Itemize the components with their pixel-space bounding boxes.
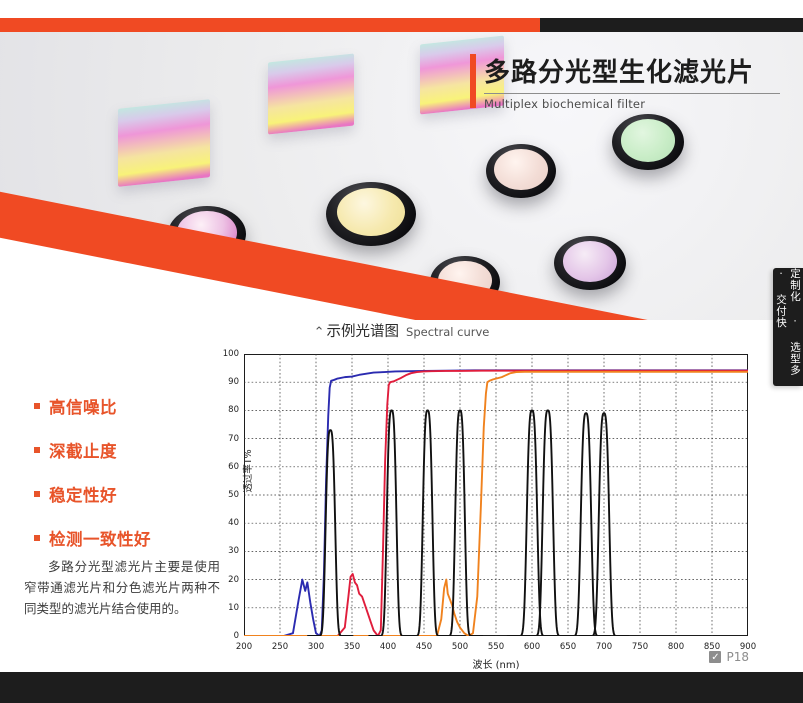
- title-divider: [484, 93, 780, 94]
- x-tick-label: 800: [668, 636, 684, 652]
- page-title: 多路分光型生化滤光片: [484, 52, 790, 89]
- x-tick-label: 250: [272, 636, 288, 652]
- page-marker: ✓ P18: [709, 650, 749, 664]
- check-icon: ✓: [709, 651, 721, 663]
- chart-heading-en: Spectral curve: [406, 325, 489, 339]
- x-tick-label: 750: [632, 636, 648, 652]
- x-tick-label: 650: [560, 636, 576, 652]
- feature-list: 高信噪比 深截止度 稳定性好 检测一致性好: [34, 394, 224, 570]
- x-tick-label: 500: [452, 636, 468, 652]
- feature-label: 检测一致性好: [49, 526, 151, 550]
- x-axis-label: 波长 (nm): [244, 656, 748, 671]
- y-tick-label: 30: [228, 546, 244, 556]
- page-subtitle: Multiplex biochemical filter: [484, 97, 790, 111]
- title-block: 多路分光型生化滤光片 Multiplex biochemical filter: [470, 52, 790, 111]
- bullet-square-icon: [34, 447, 40, 453]
- chart-section-heading: ⌃示例光谱图Spectral curve: [0, 320, 803, 341]
- filter-ring: [554, 236, 626, 290]
- spectral-curve-chart: 0102030405060708090100 20025030035040045…: [244, 354, 748, 636]
- chevron-up-icon: ⌃: [314, 325, 325, 340]
- feature-item: 检测一致性好: [34, 526, 224, 550]
- filter-ring: [326, 182, 416, 246]
- chart-canvas: [244, 354, 748, 636]
- x-tick-label: 300: [308, 636, 324, 652]
- hero-banner: 多路分光型生化滤光片 Multiplex biochemical filter: [0, 0, 803, 320]
- chart-heading-cn: 示例光谱图: [327, 324, 400, 340]
- x-tick-label: 550: [488, 636, 504, 652]
- y-tick-label: 20: [228, 575, 244, 585]
- y-tick-label: 100: [223, 349, 244, 359]
- feature-item: 高信噪比: [34, 394, 224, 418]
- y-tick-label: 40: [228, 518, 244, 528]
- feature-item: 稳定性好: [34, 482, 224, 506]
- x-tick-label: 400: [380, 636, 396, 652]
- filter-ring: [486, 144, 556, 198]
- top-dark-bar: [540, 18, 803, 32]
- description-paragraph: 多路分光型滤光片主要是使用窄带通滤光片和分色滤光片两种不同类型的滤光片结合使用的…: [24, 556, 220, 619]
- bullet-square-icon: [34, 535, 40, 541]
- x-tick-label: 450: [416, 636, 432, 652]
- title-accent-bar: [470, 54, 476, 108]
- bullet-square-icon: [34, 403, 40, 409]
- filter-ring: [612, 114, 684, 170]
- x-tick-label: 350: [344, 636, 360, 652]
- bullet-square-icon: [34, 491, 40, 497]
- feature-label: 高信噪比: [49, 394, 117, 418]
- y-tick-label: 10: [228, 603, 244, 613]
- footer-bar: [0, 672, 803, 703]
- filter-plate: [118, 99, 210, 187]
- x-tick-label: 600: [524, 636, 540, 652]
- y-axis-label: 透过率T%: [240, 436, 254, 506]
- x-tick-label: 200: [236, 636, 252, 652]
- y-tick-label: 90: [228, 377, 244, 387]
- feature-label: 稳定性好: [49, 482, 117, 506]
- x-tick-label: 700: [596, 636, 612, 652]
- filter-plate: [268, 53, 354, 134]
- y-tick-label: 80: [228, 405, 244, 415]
- feature-item: 深截止度: [34, 438, 224, 462]
- page-number: P18: [726, 650, 749, 664]
- feature-label: 深截止度: [49, 438, 117, 462]
